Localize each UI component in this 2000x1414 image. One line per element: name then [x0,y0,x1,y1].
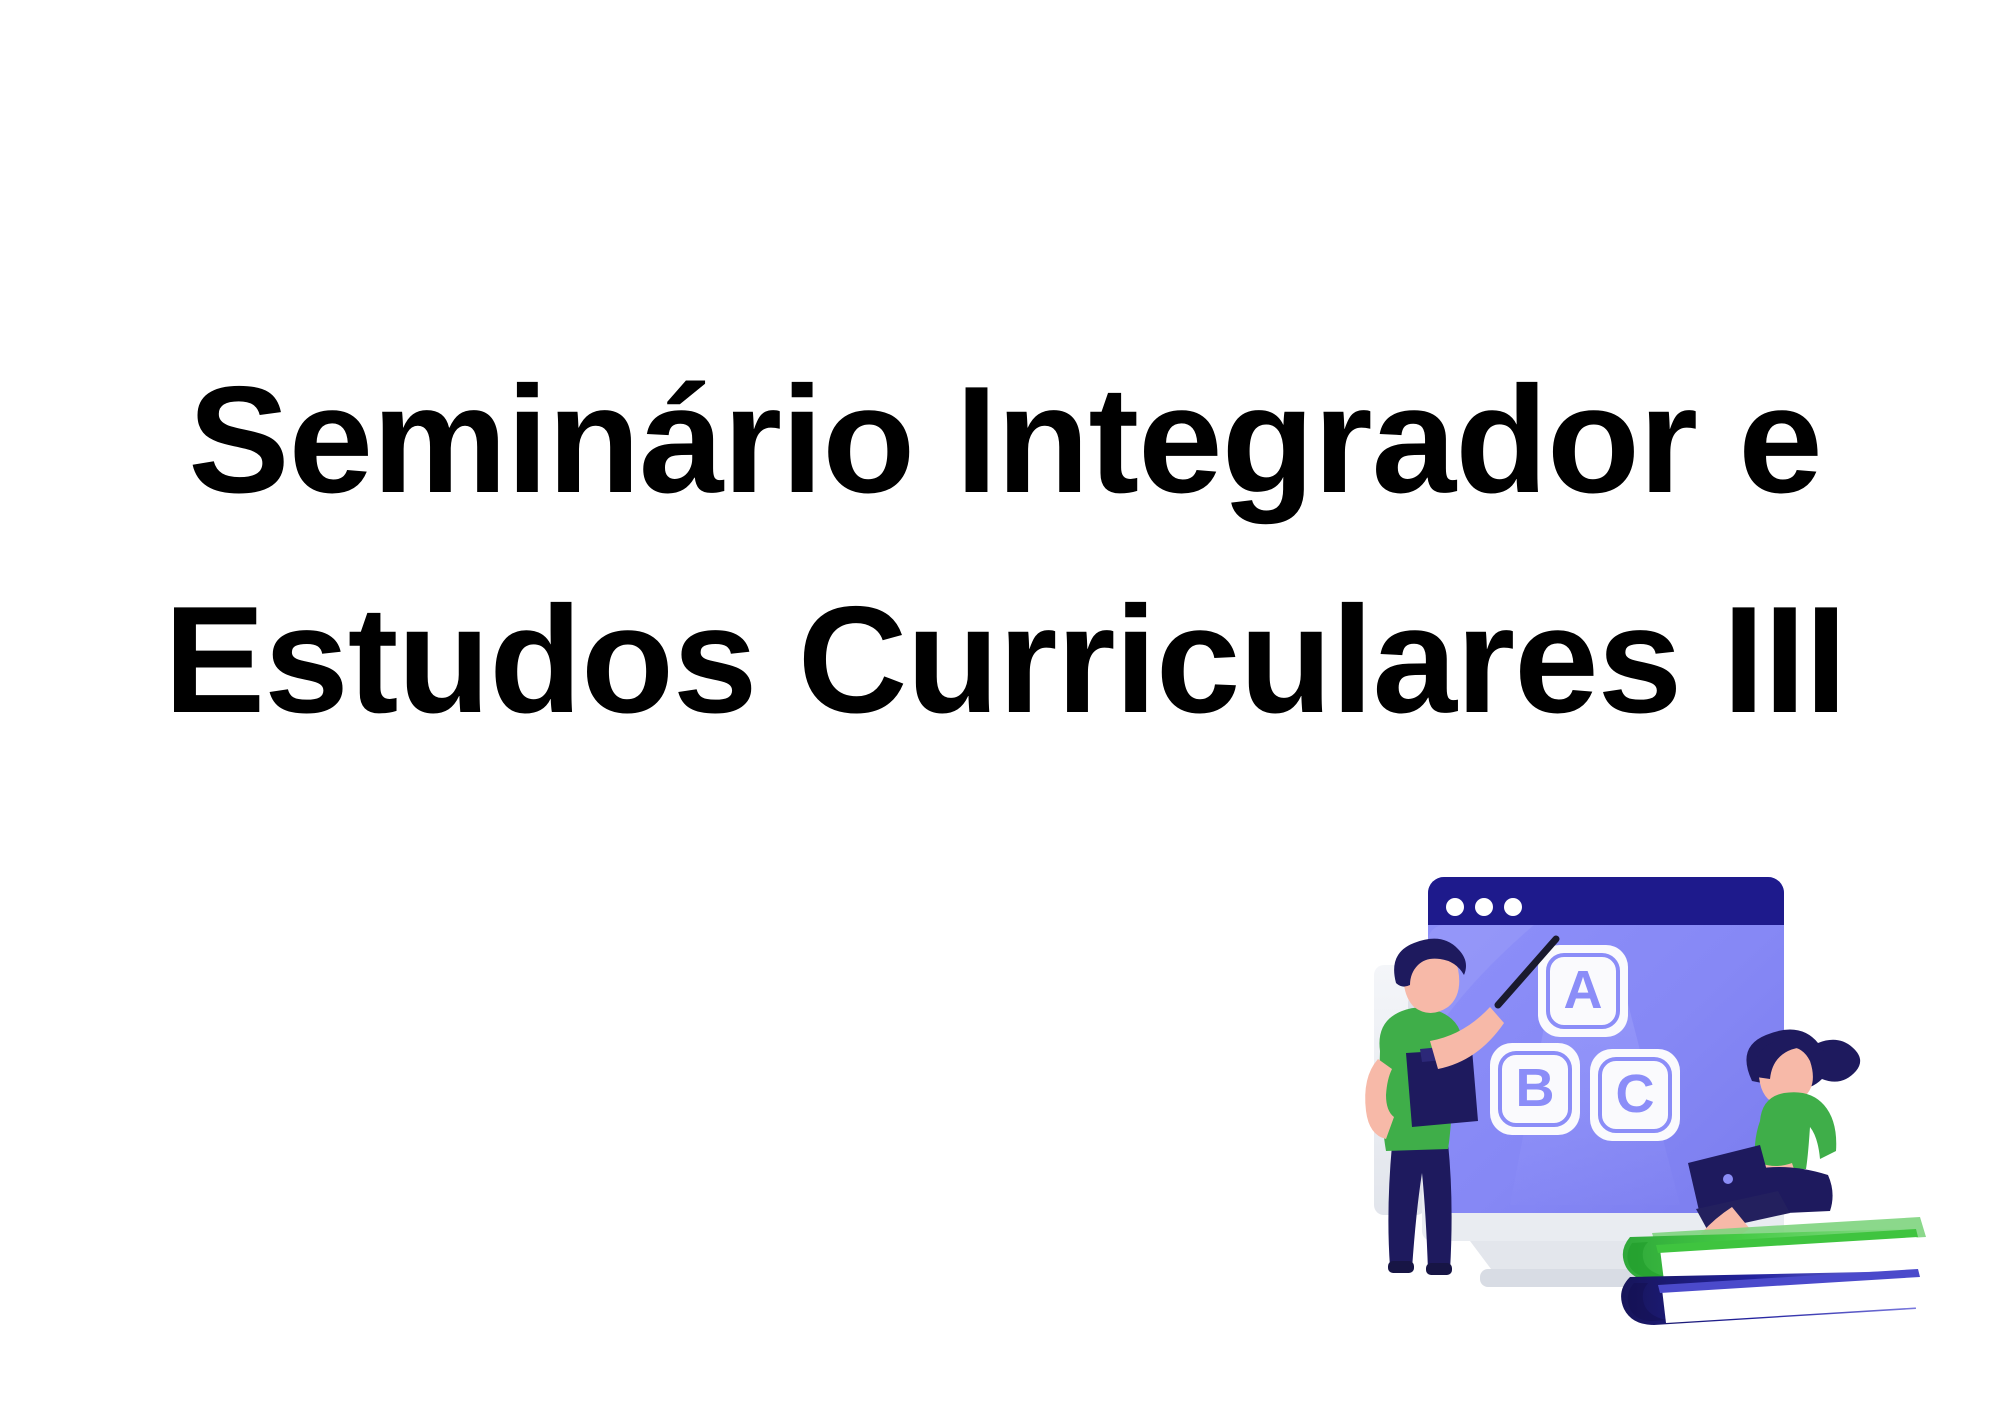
title-line-2: Estudos Curriculares III [110,550,1900,770]
svg-text:A: A [1564,960,1603,1020]
window-dot-1 [1446,898,1464,916]
book-bottom [1621,1269,1922,1325]
book-stack [1621,1217,1926,1325]
window-dot-3 [1504,898,1522,916]
title-line-1: Seminário Integrador e [110,330,1900,550]
svg-text:C: C [1616,1064,1655,1124]
letter-block-c: C [1590,1049,1680,1141]
presentation-slide: Seminário Integrador e Estudos Curricula… [0,0,2000,1414]
page-title: Seminário Integrador e Estudos Curricula… [110,330,1900,770]
letter-block-a: A [1538,945,1628,1037]
student-shirt [1755,1092,1837,1171]
letter-block-b: B [1490,1043,1580,1135]
online-education-illustration: A B C [1360,845,2000,1325]
window-dot-2 [1475,898,1493,916]
svg-text:B: B [1516,1058,1555,1118]
